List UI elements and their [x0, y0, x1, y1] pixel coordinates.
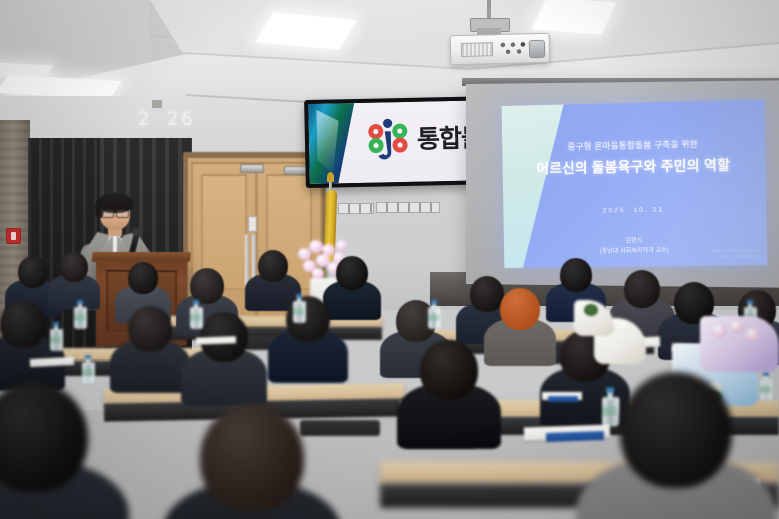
- projector-controls: [499, 40, 529, 55]
- attendee-head: [18, 256, 48, 288]
- attendee-head: [128, 262, 158, 294]
- water-bottle: [74, 300, 85, 327]
- blue-folder: [546, 431, 604, 442]
- eyeglasses-icon: [101, 209, 129, 216]
- slide-footer-text: Chungnam National University Dept. of So…: [708, 248, 759, 260]
- attendee-head: [60, 252, 88, 282]
- integrated-care-logo-icon: [364, 114, 411, 167]
- handout-paper: [196, 336, 236, 344]
- door-lock-plate-icon: [248, 216, 257, 232]
- orchid-bloom: [312, 268, 324, 279]
- wall-digital-clock: 2 26: [138, 108, 200, 134]
- ceiling-light-panel: [532, 0, 617, 34]
- fire-extinguisher-sign-icon: [6, 228, 21, 244]
- water-bottle: [760, 372, 771, 399]
- projector-vent: [461, 42, 493, 57]
- attendee-head: [500, 288, 540, 330]
- ceiling-projector: [450, 33, 551, 66]
- attendee-head: [200, 404, 304, 512]
- wall-vent: [376, 202, 440, 213]
- attendee-head: [624, 270, 660, 308]
- bouquet-small: [574, 300, 614, 336]
- bouquet-purple: [700, 316, 779, 372]
- flag-pole-finial-icon: [327, 172, 334, 182]
- wall-vent: [338, 203, 374, 214]
- presentation-slide: 중구형 온마을통합돌봄 구축을 위한 어르신의 돌봄욕구와 주민의 역할 202…: [502, 100, 768, 268]
- orchid-bloom: [336, 240, 347, 251]
- slide-date: 2025. 10. 21: [503, 205, 766, 216]
- slide-title: 어르신의 돌봄욕구와 주민의 역할: [502, 153, 765, 178]
- water-bottle: [50, 322, 61, 349]
- water-bottle: [293, 294, 304, 321]
- attendee-head: [190, 268, 224, 304]
- blue-folder: [548, 396, 578, 402]
- water-bottle: [82, 355, 93, 382]
- orchid-bloom: [309, 240, 323, 253]
- attendee-head: [128, 306, 172, 352]
- projector-lens-icon: [529, 40, 545, 58]
- clock-bracket: [152, 100, 162, 108]
- water-bottle: [428, 300, 439, 327]
- attendee-head: [0, 300, 46, 348]
- attendee-head: [336, 256, 368, 290]
- clock-time-text: 2 26: [138, 108, 196, 130]
- microphone-head-icon: [132, 228, 140, 236]
- seminar-room-photo: 2 26: [0, 0, 779, 519]
- attendee-head: [258, 250, 288, 282]
- attendee-head: [470, 276, 504, 312]
- chair-back: [300, 420, 380, 436]
- water-bottle: [190, 300, 201, 327]
- attendee-head: [560, 258, 592, 292]
- attendee-head: [620, 372, 732, 488]
- door-closer-icon: [240, 164, 264, 173]
- attendee-head: [420, 340, 478, 400]
